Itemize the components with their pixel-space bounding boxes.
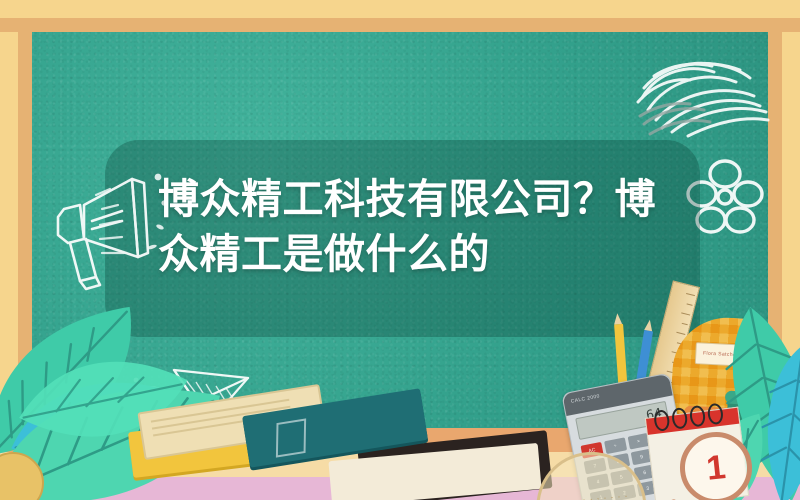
- page-title: 博众精工科技有限公司？博众精工是做什么的: [158, 172, 658, 282]
- protractor-scale: [549, 495, 633, 500]
- book-cover-emblem: [276, 418, 306, 457]
- magnifier-number: 1: [705, 448, 728, 489]
- cover-illustration: 博众精工科技有限公司？博众精工是做什么的: [0, 0, 800, 500]
- chalk-scribble-cloud-icon: [628, 40, 788, 150]
- board-frame-top-edge: [0, 18, 800, 32]
- calculator-brand: CALC 2000: [570, 393, 600, 405]
- megaphone-chalk-icon: [40, 165, 170, 300]
- calculator-key: ÷: [604, 437, 627, 454]
